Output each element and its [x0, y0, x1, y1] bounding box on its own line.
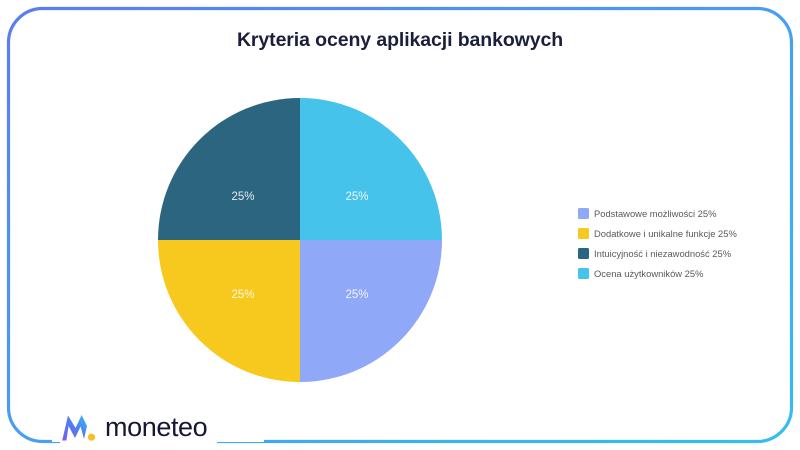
slide-canvas: Kryteria oceny aplikacji bankowych 25% 2… [0, 0, 800, 450]
moneteo-n-mark-icon [60, 412, 96, 442]
legend-item-dodatkowe-funkcje[interactable]: Dodatkowe i unikalne funkcje 25% [578, 223, 783, 243]
pie-slice-podstawowe-mozliwosci[interactable] [300, 240, 442, 382]
legend-swatch-icon [578, 228, 589, 239]
legend-swatch-icon [578, 268, 589, 279]
pie-slice-value-podstawowe-mozliwosci: 25% [345, 289, 368, 301]
brand-name: moneteo [105, 412, 207, 443]
pie-slice-dodatkowe-funkcje[interactable] [158, 240, 300, 382]
legend-item-ocena-uzytkownikow[interactable]: Ocena użytkowników 25% [578, 263, 783, 283]
pie-slice-value-intuicyjnosc: 25% [231, 191, 254, 203]
pie-slice-intuicyjnosc[interactable] [158, 98, 300, 240]
legend-item-intuicyjnosc[interactable]: Intuicyjność i niezawodność 25% [578, 243, 783, 263]
legend-item-label: Podstawowe możliwości 25% [594, 208, 716, 219]
pie-slice-ocena-uzytkownikow[interactable] [300, 98, 442, 240]
legend-item-podstawowe-mozliwosci[interactable]: Podstawowe możliwości 25% [578, 203, 783, 223]
pie-chart: 25% 25% 25% 25% [158, 98, 442, 382]
page-title: Kryteria oceny aplikacji bankowych [0, 29, 800, 52]
pie-slice-value-ocena-uzytkownikow: 25% [345, 191, 368, 203]
brand-logo[interactable]: moneteo [60, 408, 217, 446]
chart-legend: Podstawowe możliwości 25% Dodatkowe i un… [578, 203, 783, 283]
legend-swatch-icon [578, 208, 589, 219]
legend-item-label: Ocena użytkowników 25% [594, 268, 703, 279]
legend-swatch-icon [578, 248, 589, 259]
legend-item-label: Dodatkowe i unikalne funkcje 25% [594, 228, 737, 239]
legend-item-label: Intuicyjność i niezawodność 25% [594, 248, 731, 259]
pie-slice-value-dodatkowe-funkcje: 25% [231, 289, 254, 301]
